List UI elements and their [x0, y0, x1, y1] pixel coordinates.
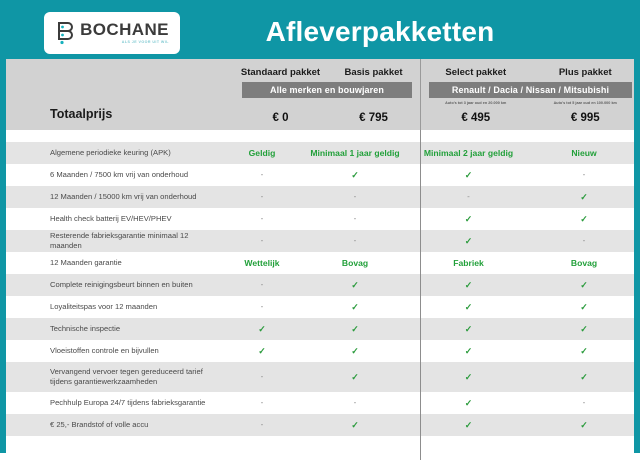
- page-header: BOCHANE ALS JE VOOR UIT WIL Afleverpakke…: [6, 6, 634, 59]
- check-icon: ✓: [580, 420, 588, 430]
- cell-basis: -: [307, 398, 403, 409]
- cell-basis: ✓: [307, 346, 403, 357]
- row-label: € 25,- Brandstof of volle accu: [6, 420, 217, 430]
- cell-plus: -: [534, 398, 634, 409]
- table-row: Loyaliteitspas voor 12 maanden-✓✓✓: [6, 296, 634, 318]
- row-cells: ✓✓✓✓: [217, 324, 634, 335]
- table-row: Pechhulp Europa 24/7 tijdens fabrieksgar…: [6, 392, 634, 414]
- total-price-label: Totaalprijs: [50, 107, 112, 121]
- dash-icon: -: [261, 398, 264, 407]
- afleverpakketten-page: BOCHANE ALS JE VOOR UIT WIL Afleverpakke…: [0, 0, 640, 453]
- check-icon: ✓: [351, 420, 359, 430]
- group-right-titles: Select pakket Plus pakket: [421, 59, 640, 78]
- cell-plus: -: [534, 170, 634, 181]
- row-label: Complete reinigingsbeurt binnen en buite…: [6, 280, 217, 290]
- check-icon: ✓: [258, 324, 266, 334]
- row-label: Pechhulp Europa 24/7 tijdens fabrieksgar…: [6, 398, 217, 408]
- cell-plus: ✓: [534, 324, 634, 335]
- cell-select: ✓: [403, 372, 534, 383]
- dash-icon: -: [583, 236, 586, 245]
- check-icon: ✓: [465, 236, 473, 246]
- dash-icon: -: [467, 192, 470, 201]
- cell-value: Minimaal 1 jaar geldig: [310, 148, 399, 158]
- check-icon: ✓: [258, 346, 266, 356]
- cell-standaard: Geldig: [217, 148, 307, 158]
- row-label: Technische inspectie: [6, 324, 217, 334]
- cell-plus: Bovag: [534, 258, 634, 268]
- column-title-plus: Plus pakket: [531, 67, 640, 78]
- price-select: € 495: [421, 112, 531, 124]
- cell-standaard: -: [217, 398, 307, 409]
- cell-basis: ✓: [307, 170, 403, 181]
- cell-value: Fabriek: [453, 258, 484, 268]
- cell-basis: -: [307, 236, 403, 247]
- cell-select: -: [403, 192, 534, 203]
- cell-select: ✓: [403, 324, 534, 335]
- table-row: Algemene periodieke keuring (APK)GeldigM…: [6, 142, 634, 164]
- check-icon: ✓: [580, 372, 588, 382]
- table-row: Technische inspectie✓✓✓✓: [6, 318, 634, 340]
- group-right-pill: Renault / Dacia / Nissan / Mitsubishi: [429, 82, 632, 98]
- row-label: 6 Maanden / 7500 km vrij van onderhoud: [6, 170, 217, 180]
- group-right-prices: € 495 € 995: [421, 112, 640, 124]
- check-icon: ✓: [580, 302, 588, 312]
- dash-icon: -: [261, 302, 264, 311]
- package-group-left: Standaard pakket Basis pakket Alle merke…: [234, 59, 420, 130]
- dash-icon: -: [354, 214, 357, 223]
- check-icon: ✓: [580, 214, 588, 224]
- table-row: € 25,- Brandstof of volle accu-✓✓✓: [6, 414, 634, 436]
- cell-select: ✓: [403, 236, 534, 247]
- cell-select: ✓: [403, 420, 534, 431]
- cell-standaard: -: [217, 372, 307, 383]
- dash-icon: -: [261, 170, 264, 179]
- cell-standaard: -: [217, 170, 307, 181]
- row-label: Vervangend vervoer tegen gereduceerd tar…: [6, 367, 217, 388]
- cell-plus: -: [534, 236, 634, 247]
- group-left-prices: € 0 € 795: [234, 112, 420, 124]
- row-label: Algemene periodieke keuring (APK): [6, 148, 217, 158]
- row-label: Vloeistoffen controle en bijvullen: [6, 346, 217, 356]
- dash-icon: -: [261, 372, 264, 381]
- check-icon: ✓: [465, 214, 473, 224]
- row-cells: -✓✓✓: [217, 420, 634, 431]
- check-icon: ✓: [351, 372, 359, 382]
- price-standaard: € 0: [234, 112, 327, 124]
- table-row: Vervangend vervoer tegen gereduceerd tar…: [6, 362, 634, 392]
- table-row: 12 Maanden garantieWettelijkBovagFabriek…: [6, 252, 634, 274]
- table-rows: Algemene periodieke keuring (APK)GeldigM…: [6, 142, 634, 436]
- cell-basis: ✓: [307, 324, 403, 335]
- cell-basis: -: [307, 214, 403, 225]
- check-icon: ✓: [465, 420, 473, 430]
- check-icon: ✓: [580, 324, 588, 334]
- cell-value: Wettelijk: [244, 258, 279, 268]
- price-band: Totaalprijs Standaard pakket Basis pakke…: [6, 59, 634, 130]
- dash-icon: -: [354, 192, 357, 201]
- group-left-titles: Standaard pakket Basis pakket: [234, 59, 420, 78]
- row-label: Resterende fabrieksgarantie minimaal 12 …: [6, 231, 217, 252]
- cell-standaard: -: [217, 192, 307, 203]
- row-cells: ---✓: [217, 192, 634, 203]
- cell-plus: ✓: [534, 372, 634, 383]
- row-cells: --✓-: [217, 236, 634, 247]
- column-title-standaard: Standaard pakket: [234, 67, 327, 78]
- check-icon: ✓: [465, 324, 473, 334]
- row-label: Health check batterij EV/HEV/PHEV: [6, 214, 217, 224]
- price-plus: € 995: [531, 112, 640, 124]
- cell-basis: ✓: [307, 420, 403, 431]
- package-group-right: Select pakket Plus pakket Renault / Daci…: [421, 59, 640, 130]
- row-cells: ✓✓✓✓: [217, 346, 634, 357]
- cell-select: Fabriek: [403, 258, 534, 268]
- cell-plus: ✓: [534, 280, 634, 291]
- dash-icon: -: [261, 214, 264, 223]
- cell-select: ✓: [403, 346, 534, 357]
- check-icon: ✓: [580, 192, 588, 202]
- cell-standaard: -: [217, 236, 307, 247]
- row-cells: -✓✓✓: [217, 302, 634, 313]
- check-icon: ✓: [465, 372, 473, 382]
- dash-icon: -: [583, 398, 586, 407]
- table-row: Complete reinigingsbeurt binnen en buite…: [6, 274, 634, 296]
- cell-value: Nieuw: [571, 148, 596, 158]
- group-left-pill: Alle merken en bouwjaren: [242, 82, 412, 98]
- table-row: 6 Maanden / 7500 km vrij van onderhoud-✓…: [6, 164, 634, 186]
- cell-standaard: -: [217, 302, 307, 313]
- check-icon: ✓: [580, 280, 588, 290]
- cell-select: ✓: [403, 302, 534, 313]
- check-icon: ✓: [465, 398, 473, 408]
- cell-plus: Nieuw: [534, 148, 634, 158]
- column-note-select: Auto's tot 3 jaar oud en 20.000 km: [421, 101, 531, 105]
- row-cells: GeldigMinimaal 1 jaar geldigMinimaal 2 j…: [217, 148, 634, 158]
- row-cells: -✓✓✓: [217, 372, 634, 383]
- cell-standaard: -: [217, 420, 307, 431]
- dash-icon: -: [261, 420, 264, 429]
- check-icon: ✓: [465, 346, 473, 356]
- dash-icon: -: [583, 170, 586, 179]
- cell-select: ✓: [403, 214, 534, 225]
- table-row: Resterende fabrieksgarantie minimaal 12 …: [6, 230, 634, 252]
- cell-standaard: -: [217, 280, 307, 291]
- cell-value: Minimaal 2 jaar geldig: [424, 148, 513, 158]
- row-cells: WettelijkBovagFabriekBovag: [217, 258, 634, 268]
- cell-basis: -: [307, 192, 403, 203]
- table-row: Vloeistoffen controle en bijvullen✓✓✓✓: [6, 340, 634, 362]
- cell-plus: ✓: [534, 214, 634, 225]
- check-icon: ✓: [465, 280, 473, 290]
- cell-plus: ✓: [534, 302, 634, 313]
- comparison-table: Algemene periodieke keuring (APK)GeldigM…: [6, 130, 634, 460]
- page-title: Afleverpakketten: [6, 16, 634, 48]
- row-cells: --✓-: [217, 398, 634, 409]
- check-icon: ✓: [465, 302, 473, 312]
- cell-value: Bovag: [342, 258, 368, 268]
- dash-icon: -: [261, 280, 264, 289]
- column-note-plus: Auto's tot 5 jaar oud en 100.000 km: [531, 101, 640, 105]
- table-row: 12 Maanden / 15000 km vrij van onderhoud…: [6, 186, 634, 208]
- table-row: Health check batterij EV/HEV/PHEV--✓✓: [6, 208, 634, 230]
- cell-standaard: ✓: [217, 324, 307, 335]
- cell-basis: ✓: [307, 372, 403, 383]
- check-icon: ✓: [465, 170, 473, 180]
- column-title-select: Select pakket: [421, 67, 531, 78]
- check-icon: ✓: [351, 324, 359, 334]
- table-bottom-spacer: [6, 436, 634, 460]
- row-cells: -✓✓✓: [217, 280, 634, 291]
- table-group-divider: [420, 130, 421, 460]
- row-label: 12 Maanden / 15000 km vrij van onderhoud: [6, 192, 217, 202]
- cell-select: ✓: [403, 170, 534, 181]
- column-title-basis: Basis pakket: [327, 67, 420, 78]
- cell-basis: ✓: [307, 280, 403, 291]
- cell-select: ✓: [403, 280, 534, 291]
- dash-icon: -: [354, 398, 357, 407]
- dash-icon: -: [261, 192, 264, 201]
- price-basis: € 795: [327, 112, 420, 124]
- cell-basis: Minimaal 1 jaar geldig: [307, 148, 403, 158]
- cell-select: Minimaal 2 jaar geldig: [403, 148, 534, 158]
- row-cells: --✓✓: [217, 214, 634, 225]
- cell-value: Bovag: [571, 258, 597, 268]
- cell-basis: ✓: [307, 302, 403, 313]
- cell-plus: ✓: [534, 420, 634, 431]
- group-right-notes: Auto's tot 3 jaar oud en 20.000 km Auto'…: [421, 101, 640, 105]
- cell-plus: ✓: [534, 346, 634, 357]
- check-icon: ✓: [351, 302, 359, 312]
- cell-value: Geldig: [249, 148, 276, 158]
- cell-select: ✓: [403, 398, 534, 409]
- cell-standaard: -: [217, 214, 307, 225]
- cell-standaard: Wettelijk: [217, 258, 307, 268]
- dash-icon: -: [354, 236, 357, 245]
- row-label: 12 Maanden garantie: [6, 258, 217, 268]
- check-icon: ✓: [351, 346, 359, 356]
- cell-basis: Bovag: [307, 258, 403, 268]
- dash-icon: -: [261, 236, 264, 245]
- cell-plus: ✓: [534, 192, 634, 203]
- check-icon: ✓: [580, 346, 588, 356]
- check-icon: ✓: [351, 280, 359, 290]
- cell-standaard: ✓: [217, 346, 307, 357]
- band-group-divider: [420, 59, 421, 130]
- row-label: Loyaliteitspas voor 12 maanden: [6, 302, 217, 312]
- check-icon: ✓: [351, 170, 359, 180]
- table-top-spacer: [6, 130, 634, 142]
- row-cells: -✓✓-: [217, 170, 634, 181]
